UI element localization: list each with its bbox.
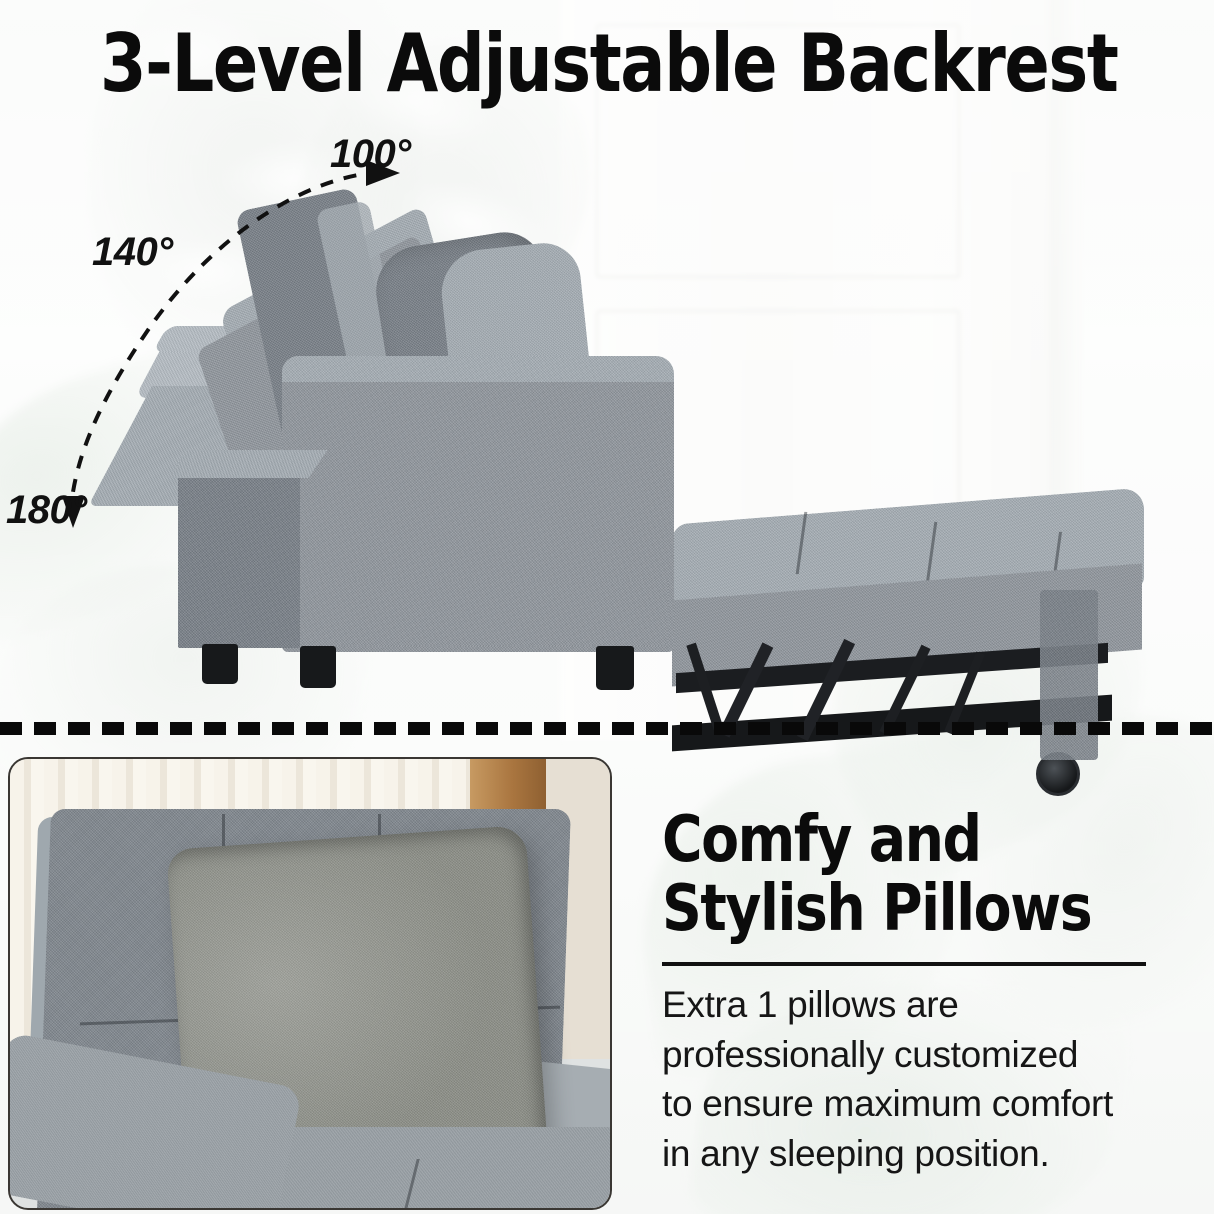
pillow-heading-line1: Comfy and <box>662 806 1142 875</box>
pillow-photo-panel <box>8 757 612 1210</box>
product-infographic: 3-Level Adjustable Backrest <box>0 0 1214 1214</box>
heading-rule <box>662 962 1146 966</box>
sofa-illustration <box>0 150 1214 710</box>
sofa-base-block-top <box>169 450 328 478</box>
section-divider <box>0 722 1214 735</box>
angle-label-180: 180° <box>6 488 87 533</box>
pillow-body-line: professionally customized <box>662 1030 1162 1080</box>
sofa-leg <box>202 644 238 684</box>
sofa-leg <box>300 646 336 688</box>
sofa-leg <box>596 646 634 690</box>
sofa-armrest-topedge <box>282 356 674 382</box>
pillow-heading-line2: Stylish Pillows <box>662 875 1142 944</box>
sofa-base-block <box>178 466 300 648</box>
pillow-body-line: Extra 1 pillows are <box>662 980 1162 1030</box>
pillow-body-line: to ensure maximum comfort <box>662 1079 1162 1129</box>
pillow-body-line: in any sleeping position. <box>662 1129 1162 1179</box>
angle-label-100: 100° <box>330 132 411 177</box>
sofa-armrest-lower <box>286 580 668 646</box>
pillow-copy-block: Comfy and Stylish Pillows Extra 1 pillow… <box>662 806 1162 1179</box>
page-title: 3-Level Adjustable Backrest <box>100 24 1117 104</box>
angle-label-140: 140° <box>92 230 173 275</box>
